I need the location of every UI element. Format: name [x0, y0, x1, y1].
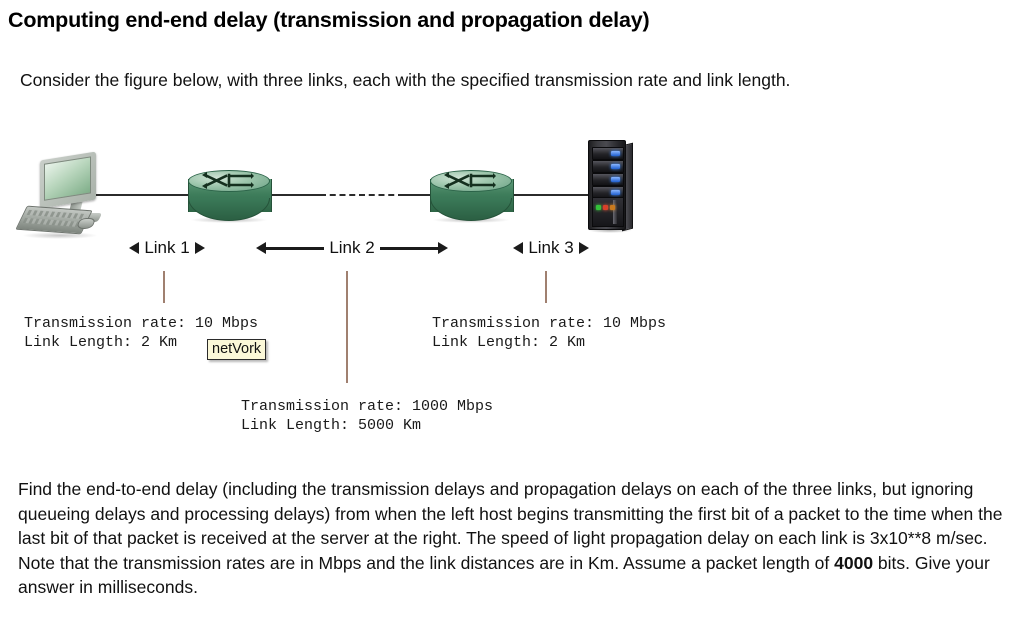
- pc-monitor: [40, 152, 96, 209]
- link-3-label: Link 3: [523, 238, 578, 258]
- link-1-transmission-rate: Transmission rate: 10 Mbps: [24, 315, 258, 332]
- network-tooltip[interactable]: netVork: [207, 339, 266, 360]
- arrow-right-icon: [195, 242, 205, 254]
- server-bay-led: [611, 151, 620, 156]
- server-bay: [592, 160, 624, 173]
- server-front-panel: [592, 197, 624, 227]
- link-1-tick-line: [163, 271, 165, 303]
- router-2-icon: [430, 170, 512, 220]
- server-status-led-red: [603, 205, 608, 210]
- server-slot: [613, 200, 617, 224]
- server-bay-led: [611, 164, 620, 169]
- host-pc-icon: [18, 156, 104, 242]
- network-topology-figure: Link 1 Link 2 Link 3 Transmission rate: …: [0, 128, 700, 448]
- server-status-led-green: [596, 205, 601, 210]
- link-2-link-length: Link Length: 5000 Km: [241, 417, 421, 434]
- link-3-transmission-rate: Transmission rate: 10 Mbps: [432, 315, 666, 332]
- wire-dashed-middle: [320, 194, 404, 196]
- arrow-right-icon: [438, 242, 448, 254]
- arrow-left-icon: [513, 242, 523, 254]
- question-paragraph: Find the end-to-end delay (including the…: [18, 477, 1018, 600]
- server-bay-led: [611, 177, 620, 182]
- link-1-label: Link 1: [139, 238, 194, 258]
- wire-host-to-router1: [90, 194, 200, 196]
- link-1-link-length: Link Length: 2 Km: [24, 334, 177, 351]
- server-bay: [592, 147, 624, 160]
- arrow-left-icon: [256, 242, 266, 254]
- pc-screen: [44, 156, 91, 200]
- link-3-spec: Transmission rate: 10 Mbps Link Length: …: [432, 314, 666, 352]
- server-bay: [592, 173, 624, 186]
- arrow-shaft: [380, 247, 438, 250]
- server-status-led-orange: [610, 205, 615, 210]
- link-1-arrow-label: Link 1: [108, 236, 226, 260]
- pc-mouse: [76, 218, 96, 229]
- router-1-icon: [188, 170, 270, 220]
- router-crossing-arrows-icon: [444, 172, 496, 189]
- link-2-arrow-label: Link 2: [256, 236, 448, 260]
- link-2-tick-line: [346, 271, 348, 383]
- wire-router1-out: [268, 194, 320, 196]
- link-3-link-length: Link Length: 2 Km: [432, 334, 585, 351]
- link-2-transmission-rate: Transmission rate: 1000 Mbps: [241, 398, 493, 415]
- server-case: [588, 140, 626, 230]
- arrow-left-icon: [129, 242, 139, 254]
- link-3-tick-line: [545, 271, 547, 303]
- server-bay-led: [611, 190, 620, 195]
- server-icon: [588, 140, 632, 232]
- router-crossing-arrows-icon: [202, 172, 254, 189]
- arrow-shaft: [266, 247, 324, 250]
- arrow-right-icon: [579, 242, 589, 254]
- intro-paragraph: Consider the figure below, with three li…: [20, 70, 790, 91]
- link-2-spec: Transmission rate: 1000 Mbps Link Length…: [241, 397, 493, 435]
- pc-shadow: [22, 232, 98, 239]
- link-3-arrow-label: Link 3: [496, 236, 606, 260]
- packet-length-value: 4000: [834, 553, 873, 573]
- link-2-label: Link 2: [324, 238, 379, 258]
- page-title: Computing end-end delay (transmission an…: [8, 8, 649, 33]
